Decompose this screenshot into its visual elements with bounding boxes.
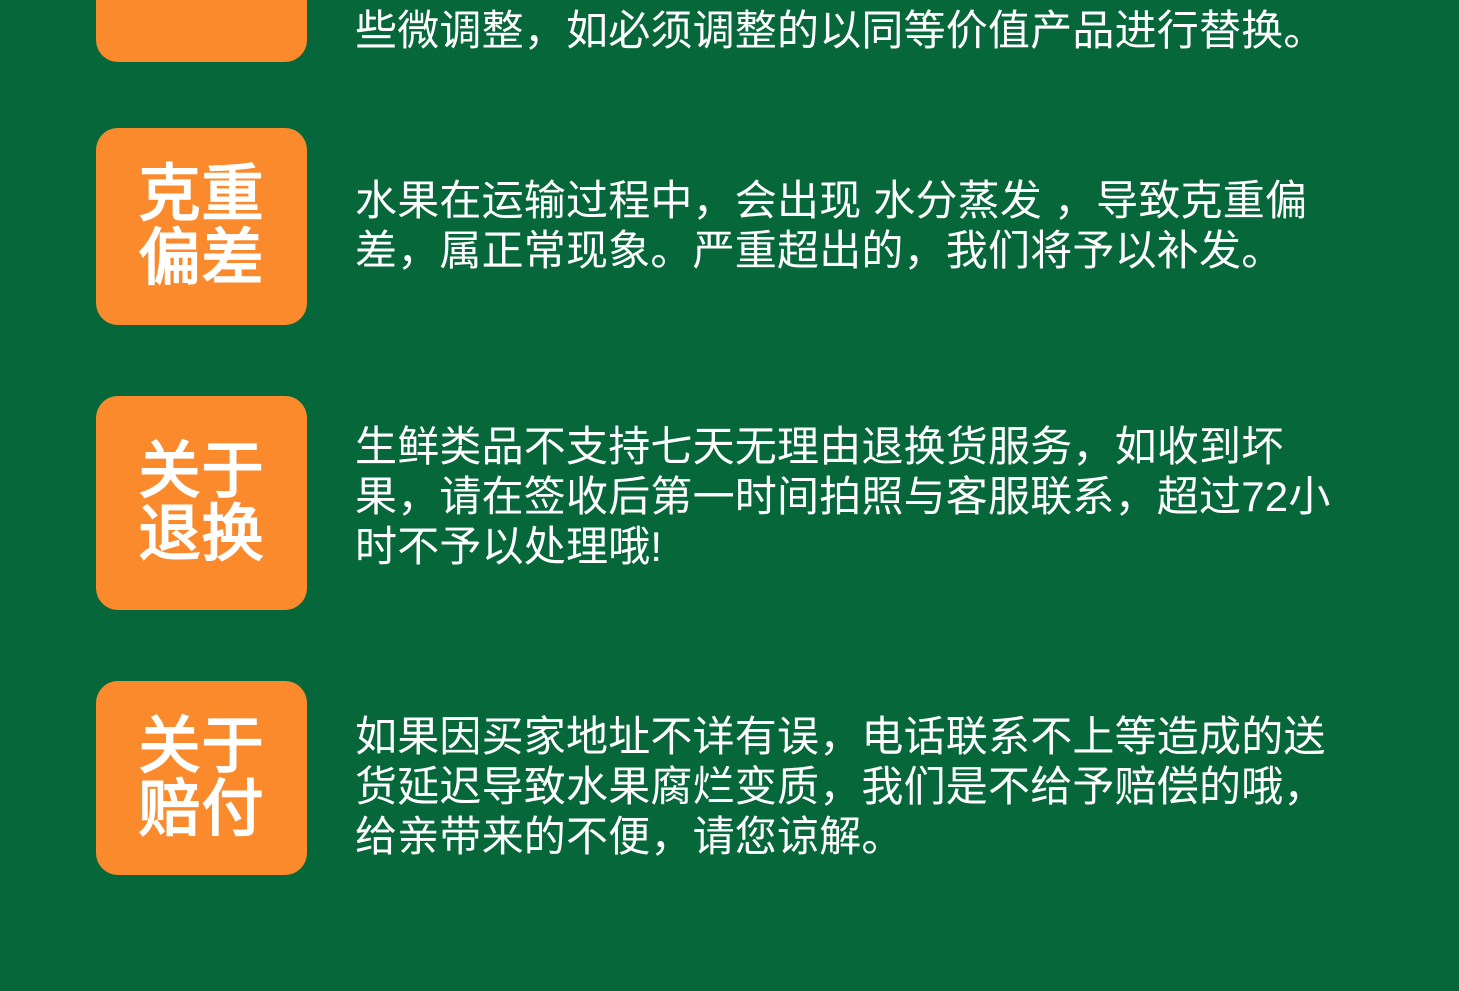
badge-tips-line1: 提示 bbox=[138, 0, 264, 4]
badge-returns-line1: 关于 bbox=[138, 440, 264, 503]
notice-text-returns: 生鲜类品不支持七天无理由退换货服务，如收到坏果，请在签收后第一时间拍照与客服联系… bbox=[355, 422, 1355, 572]
after-sales-notice-panel: 提示 些微调整，如必须调整的以同等价值产品进行替换。 克重 偏差 水果在运输过程… bbox=[0, 0, 1459, 991]
notice-text-tips: 些微调整，如必须调整的以同等价值产品进行替换。 bbox=[355, 6, 1355, 56]
badge-compensation: 关于 赔付 bbox=[96, 681, 307, 875]
badge-weight-deviation-line1: 克重 bbox=[138, 163, 264, 226]
badge-weight-deviation-line2: 偏差 bbox=[138, 227, 264, 290]
badge-weight-deviation: 克重 偏差 bbox=[96, 128, 307, 325]
badge-tips: 提示 bbox=[96, 0, 307, 62]
badge-compensation-line1: 关于 bbox=[138, 715, 264, 778]
badge-returns: 关于 退换 bbox=[96, 396, 307, 610]
badge-compensation-line2: 赔付 bbox=[138, 778, 264, 841]
notice-text-weight-deviation: 水果在运输过程中，会出现 水分蒸发 ，导致克重偏差，属正常现象。严重超出的，我们… bbox=[355, 176, 1355, 276]
notice-text-compensation: 如果因买家地址不详有误，电话联系不上等造成的送货延迟导致水果腐烂变质，我们是不给… bbox=[355, 712, 1355, 862]
badge-returns-line2: 退换 bbox=[138, 503, 264, 566]
